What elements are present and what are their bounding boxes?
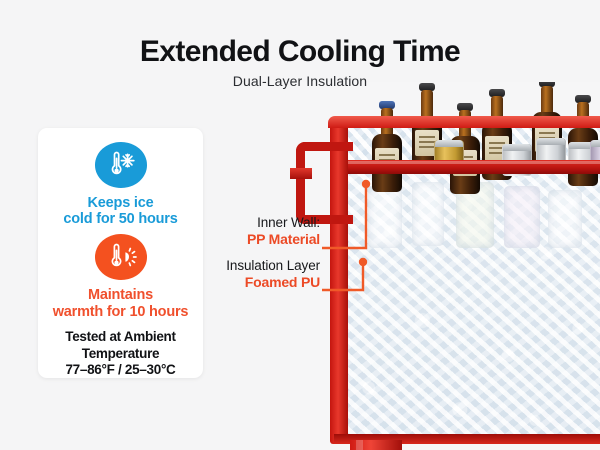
note-line3: 77–86°F / 25–30°C	[65, 362, 175, 378]
cooler-leg	[350, 440, 402, 450]
can-top	[435, 140, 463, 147]
submerged-can	[412, 182, 444, 246]
callout-insulation-layer: Insulation Layer Foamed PU	[150, 258, 320, 292]
note-line1: Tested at Ambient	[65, 329, 175, 345]
can-top	[503, 144, 531, 151]
test-conditions-note: Tested at Ambient Temperature 77–86°F / …	[65, 329, 175, 378]
specs-card: Keeps ice cold for 50 hours Maintains wa…	[38, 128, 203, 378]
can-top	[537, 138, 565, 145]
page-subtitle: Dual-Layer Insulation	[0, 73, 600, 89]
banner-canvas: Extended Cooling Time Dual-Layer Insulat…	[0, 0, 600, 450]
product-image	[290, 82, 600, 450]
cold-caption-line1: Keeps ice	[63, 195, 177, 212]
submerged-can	[548, 190, 582, 248]
cooler-rim	[334, 160, 600, 174]
callout-inner-wall-label: Inner Wall:	[150, 215, 320, 231]
can-top	[591, 140, 600, 147]
cooler-handle	[296, 142, 353, 224]
warm-caption-line2: warmth for 10 hours	[53, 304, 189, 321]
cooler-top-lip	[328, 116, 600, 128]
thermometer-snowflake-icon	[95, 142, 147, 188]
thermometer-sun-icon	[95, 234, 147, 280]
submerged-can	[368, 186, 402, 248]
note-line2: Temperature	[65, 346, 175, 362]
callout-insulation-label: Insulation Layer	[150, 258, 320, 274]
callout-inner-wall-value: PP Material	[150, 231, 320, 248]
page-title: Extended Cooling Time	[0, 36, 600, 68]
submerged-can	[504, 186, 540, 248]
callout-inner-wall: Inner Wall: PP Material	[150, 215, 320, 249]
cooler-handle-mount	[290, 168, 312, 179]
warm-caption: Maintains warmth for 10 hours	[53, 287, 189, 321]
callout-insulation-value: Foamed PU	[150, 274, 320, 291]
